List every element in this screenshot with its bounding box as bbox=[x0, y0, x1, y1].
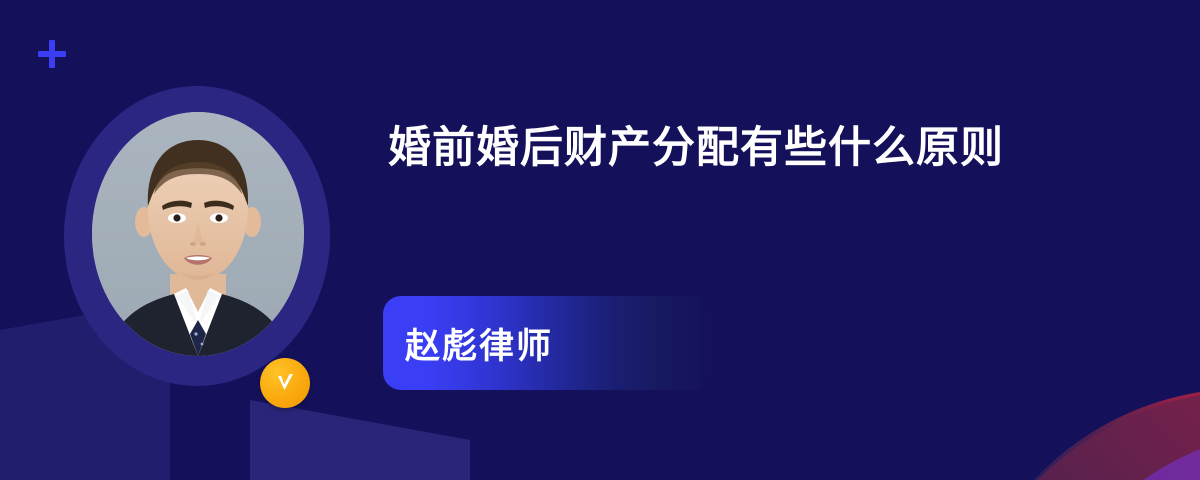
plus-icon bbox=[38, 40, 66, 68]
verified-badge bbox=[260, 358, 310, 408]
page-title: 婚前婚后财产分配有些什么原则 bbox=[388, 118, 1048, 179]
portrait-illustration bbox=[92, 112, 304, 356]
lawyer-qa-banner: 婚前婚后财产分配有些什么原则 赵彪律师 bbox=[0, 0, 1200, 480]
lawyer-name-button[interactable]: 赵彪律师 bbox=[383, 296, 713, 390]
avatar bbox=[64, 86, 330, 386]
content-block: 婚前婚后财产分配有些什么原则 bbox=[388, 118, 1088, 179]
avatar-photo bbox=[92, 112, 304, 356]
check-v-icon bbox=[271, 369, 299, 397]
